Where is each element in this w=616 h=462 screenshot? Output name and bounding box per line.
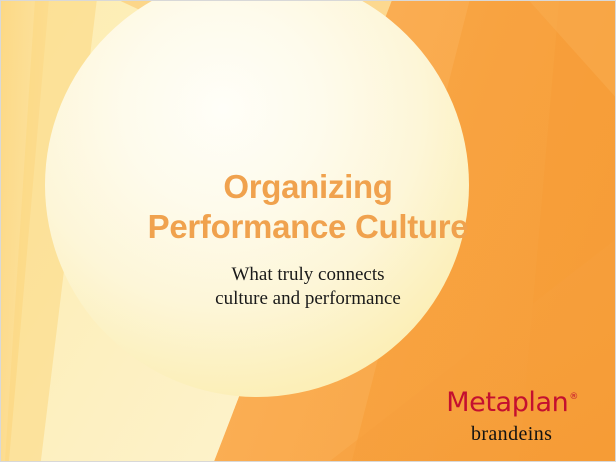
metaplan-wordmark: Metaplan [446,387,568,418]
title-slide: Organizing Performance Culture What trul… [0,0,616,462]
subtitle-line-2: culture and performance [1,287,615,311]
brandeins-wordmark: brandeins [446,421,577,447]
title-line-2: Performance Culture [1,207,615,247]
metaplan-logo: Metaplan® [446,384,577,418]
page-title: Organizing Performance Culture [1,167,615,247]
logo-lockup: Metaplan® brandeins [446,384,577,447]
registered-trademark-icon: ® [569,392,578,402]
subtitle-line-1: What truly connects [1,263,615,287]
page-subtitle: What truly connects culture and performa… [1,263,615,311]
title-line-1: Organizing [1,167,615,207]
